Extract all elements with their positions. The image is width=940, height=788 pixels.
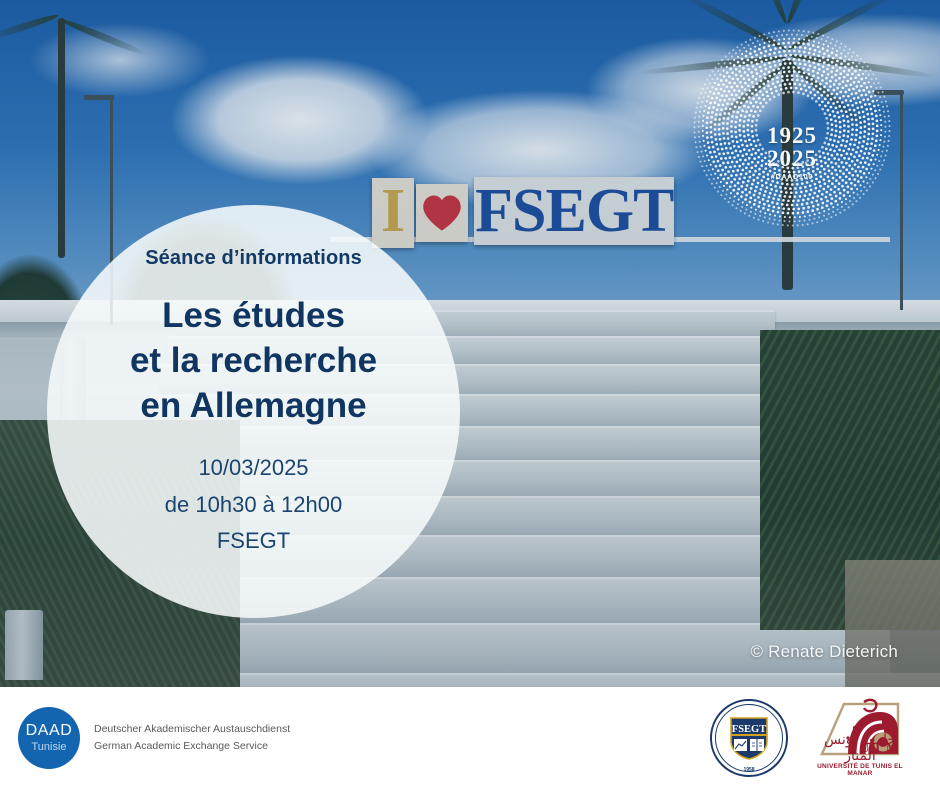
utm-name-arabic: جامعة تونس المنار bbox=[814, 732, 906, 764]
daad-name-en: German Academic Exchange Service bbox=[94, 738, 290, 754]
event-info-circle: Séance d’informations Les études et la r… bbox=[47, 205, 460, 618]
utm-logo: UTM جامعة تونس المنار UNIVERSITÉ DE TUNI… bbox=[814, 698, 906, 778]
event-time: de 10h30 à 12h00 bbox=[165, 487, 342, 523]
daad-full-name: Deutscher Akademischer Austauschdienst G… bbox=[94, 721, 290, 754]
badge-year-to: 2025 bbox=[692, 147, 892, 170]
street-lamp-post bbox=[900, 90, 903, 310]
event-details: 10/03/2025 de 10h30 à 12h00 FSEGT bbox=[165, 450, 342, 559]
headline-line-2: et la recherche bbox=[130, 339, 377, 384]
fsegt-logo: FACULTÉ DES SCIENCES ÉCONOMIQUES ET DE G… bbox=[710, 699, 788, 777]
street-lamp-head bbox=[84, 95, 114, 100]
daad-country: Tunisie bbox=[31, 742, 66, 753]
dirt-patch bbox=[845, 560, 940, 687]
svg-text:FSEGT: FSEGT bbox=[732, 724, 766, 735]
sign-letter-i: I bbox=[372, 178, 414, 248]
shield-icon: FSEGT bbox=[729, 715, 769, 761]
daad-logo-lockup: DAAD Tunisie Deutscher Akademischer Aust… bbox=[18, 707, 290, 769]
badge-hashtag: #DAAD100 bbox=[692, 174, 892, 181]
headline-line-3: en Allemagne bbox=[130, 384, 377, 429]
partner-logos: FACULTÉ DES SCIENCES ÉCONOMIQUES ET DE G… bbox=[710, 698, 906, 778]
daad-logo-icon: DAAD Tunisie bbox=[18, 707, 80, 769]
concrete-post bbox=[5, 610, 43, 680]
sign-word-fsegt: FSEGT bbox=[470, 178, 678, 248]
photo-credit: © Renate Dieterich bbox=[751, 642, 898, 662]
sign-word-text: FSEGT bbox=[474, 177, 674, 245]
event-location: FSEGT bbox=[165, 523, 342, 559]
daad-name-de: Deutscher Akademischer Austauschdienst bbox=[94, 721, 290, 737]
daad-acronym: DAAD bbox=[26, 723, 73, 739]
event-kicker: Séance d’informations bbox=[145, 247, 362, 270]
footer-logo-bar: DAAD Tunisie Deutscher Akademischer Aust… bbox=[0, 687, 940, 788]
fsegt-founding-year: 1958 bbox=[710, 767, 788, 773]
event-date: 10/03/2025 bbox=[165, 450, 342, 486]
badge-text: 1925 2025 #DAAD100 bbox=[692, 124, 892, 181]
fsegt-building-sign: I FSEGT bbox=[372, 178, 678, 248]
headline-line-1: Les études bbox=[130, 294, 377, 339]
daad-anniversary-badge: 1925 2025 #DAAD100 bbox=[692, 28, 892, 228]
badge-year-from: 1925 bbox=[692, 124, 892, 147]
poster-image: I FSEGT 1925 2025 #DAAD100 bbox=[0, 0, 940, 687]
palm-trunk-left bbox=[58, 18, 65, 258]
utm-name-french: UNIVERSITÉ DE TUNIS EL MANAR bbox=[814, 763, 906, 777]
event-headline: Les études et la recherche en Allemagne bbox=[130, 294, 377, 428]
heart-icon bbox=[416, 184, 468, 242]
